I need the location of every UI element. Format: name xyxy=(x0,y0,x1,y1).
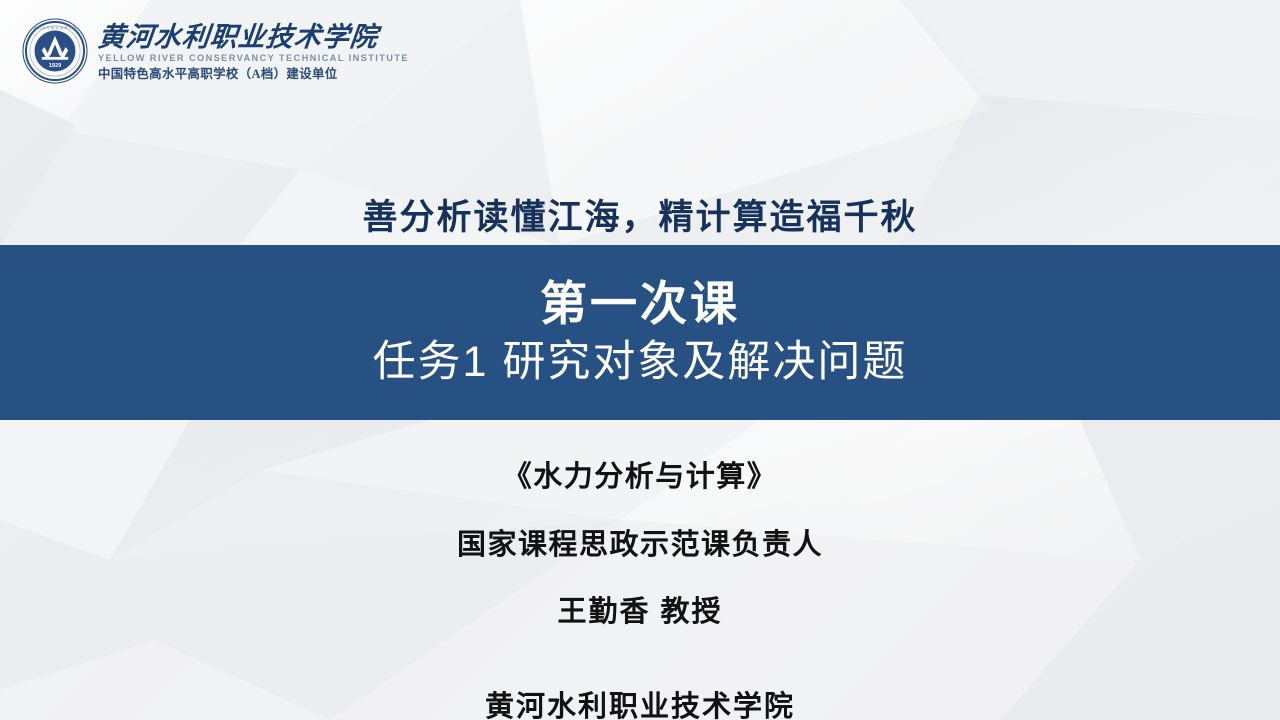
course-title: 《水力分析与计算》 xyxy=(0,453,1280,495)
institution-name: 黄河水利职业技术学院 xyxy=(0,683,1280,720)
lesson-subtitle: 任务1 研究对象及解决问题 xyxy=(373,337,908,388)
slide-tagline: 善分析读懂江海，精计算造福千秋 xyxy=(0,189,1280,240)
logo-text-block: 黄河水利职业技术学院 YELLOW RIVER CONSERVANCY TECH… xyxy=(98,20,409,83)
credits-block: 《水力分析与计算》 国家课程思政示范课负责人 王勤香 教授 黄河水利职业技术学院 xyxy=(0,440,1280,720)
presenter-name: 王勤香 教授 xyxy=(0,588,1280,630)
title-banner: 第一次课 任务1 研究对象及解决问题 xyxy=(0,245,1280,420)
presenter-role: 国家课程思政示范课负责人 xyxy=(0,521,1280,563)
yrcti-seal-icon: 1929 黄 河 水 利 职 业 技 术 学 院 xyxy=(22,18,88,84)
svg-text:黄 河 水 利 职 业 技 术 学 院: 黄 河 水 利 职 业 技 术 学 院 xyxy=(33,25,77,30)
presentation-slide: 1929 黄 河 水 利 职 业 技 术 学 院 黄河水利职业技术学院 YELL… xyxy=(0,0,1280,720)
emblem-year-label: 1929 xyxy=(49,63,61,69)
lesson-title: 第一次课 xyxy=(540,277,740,332)
logo-chinese-subtitle: 中国特色高水平高职学校（A档）建设单位 xyxy=(98,67,338,83)
logo-english-name: YELLOW RIVER CONSERVANCY TECHNICAL INSTI… xyxy=(98,53,409,65)
institution-logo: 1929 黄 河 水 利 职 业 技 术 学 院 黄河水利职业技术学院 YELL… xyxy=(22,18,409,84)
logo-chinese-name: 黄河水利职业技术学院 xyxy=(96,22,379,52)
